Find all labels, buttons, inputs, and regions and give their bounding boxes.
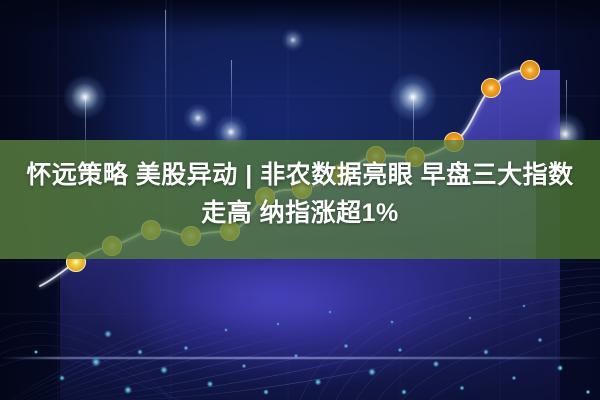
banner-title-line-2: 走高 纳指涨超1% bbox=[0, 194, 600, 232]
news-banner-image: 怀远策略 美股异动 | 非农数据亮眼 早盘三大指数 走高 纳指涨超1% bbox=[0, 0, 600, 400]
banner-title-line-1: 怀远策略 美股异动 | 非农数据亮眼 早盘三大指数 bbox=[0, 156, 600, 194]
banner-title: 怀远策略 美股异动 | 非农数据亮眼 早盘三大指数 走高 纳指涨超1% bbox=[0, 156, 600, 232]
